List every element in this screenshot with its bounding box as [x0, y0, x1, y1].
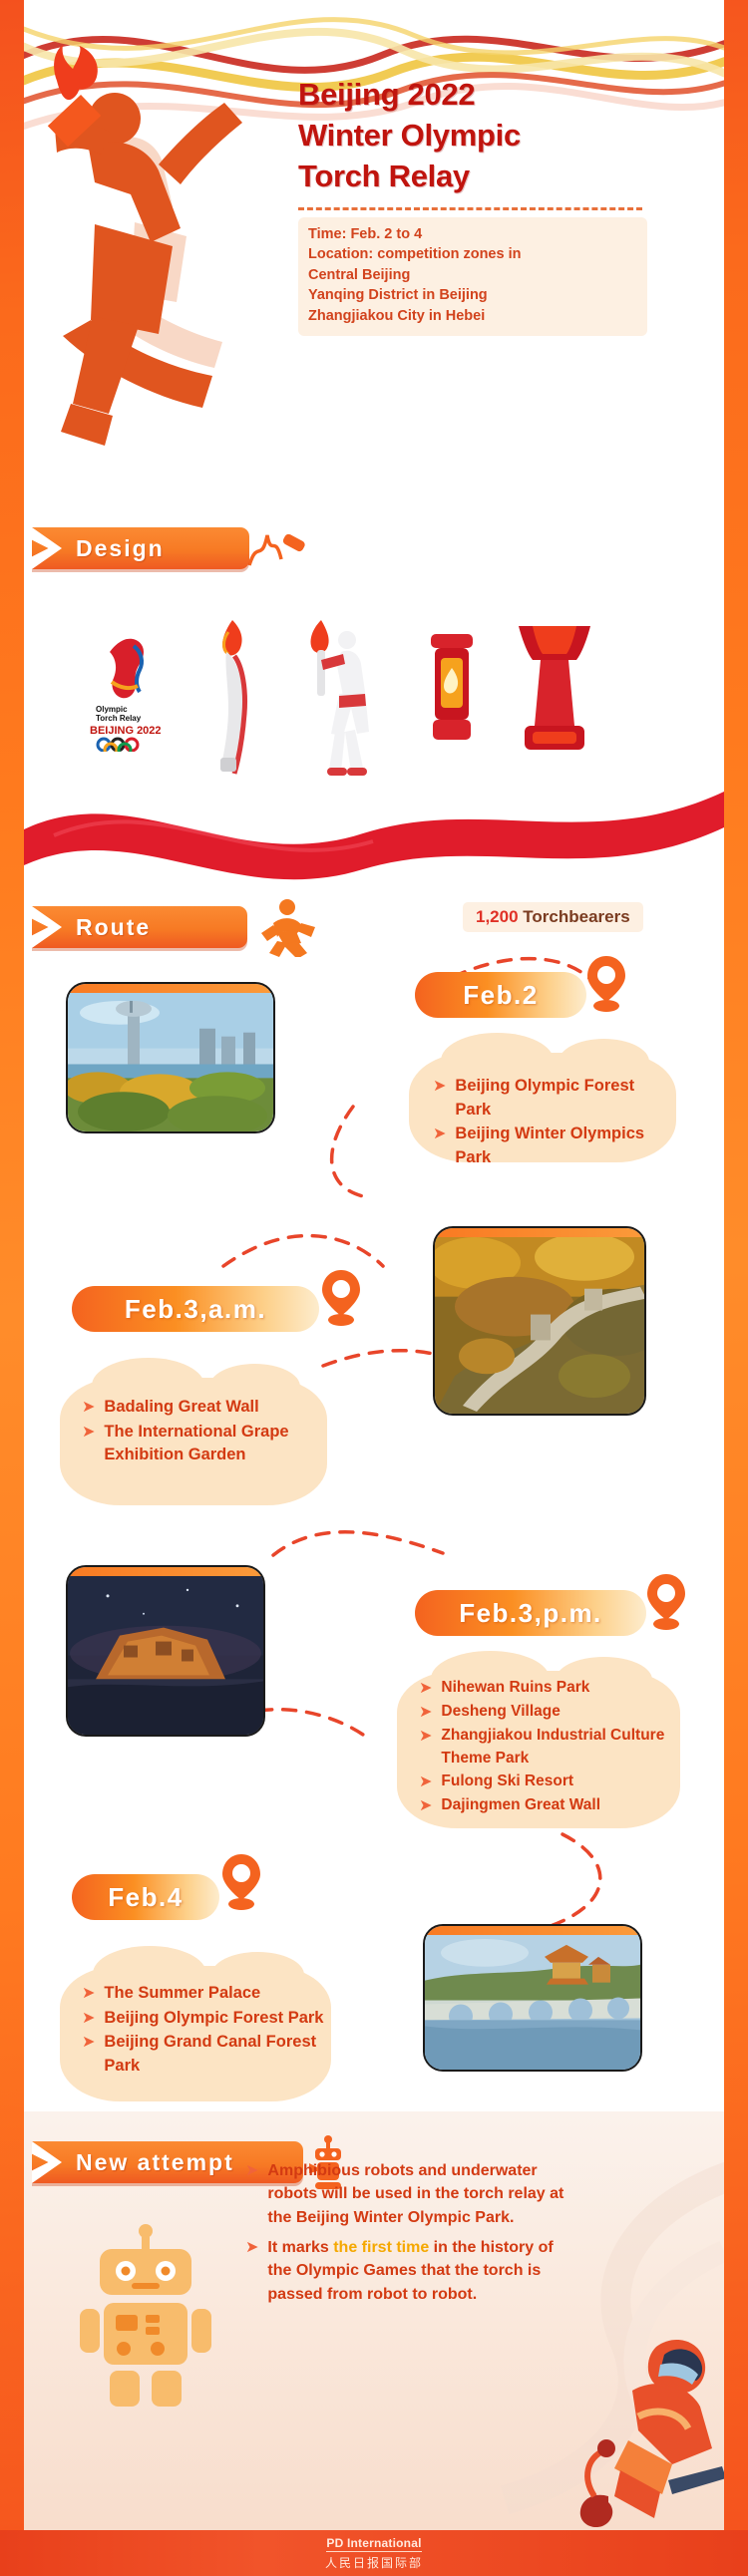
date-pill-feb3am-label: Feb.3,a.m.: [125, 1294, 266, 1325]
info-line-location: Location: competition zones in: [308, 244, 637, 265]
arrow-bullet-icon: ➤: [433, 1075, 446, 1098]
svg-text:Torch Relay: Torch Relay: [96, 714, 142, 723]
title-line-1: Beijing 2022: [298, 75, 692, 116]
arrow-bullet-icon: ➤: [419, 1701, 432, 1724]
list-item: ➤ Beijing Grand Canal Forest Park: [82, 2031, 331, 2078]
photo-frame-top: [435, 1228, 644, 1237]
place-label: The Summer Palace: [104, 1982, 260, 2006]
place-list-feb3am: ➤ Badaling Great Wall ➤ The Internationa…: [82, 1396, 333, 1468]
list-item: ➤ Beijing Winter Olympics Park: [433, 1123, 672, 1169]
section-banner-design[interactable]: Design: [32, 527, 249, 569]
attempt-point-1: Amphibious robots and underwater robots …: [267, 2159, 564, 2229]
place-label: The International Grape Exhibition Garde…: [104, 1421, 333, 1467]
svg-text:Olympic: Olympic: [96, 705, 128, 714]
info-line-time: Time: Feb. 2 to 4: [308, 224, 637, 245]
title-line-3: Torch Relay: [298, 157, 692, 197]
route-photo-feb4: [423, 1924, 642, 2072]
new-attempt-section: New attempt: [24, 2111, 724, 2530]
date-pill-feb2[interactable]: Feb.2: [415, 972, 586, 1018]
arrow-bullet-icon: ➤: [82, 1396, 95, 1419]
photo-frame-top: [68, 1567, 263, 1576]
place-label: Fulong Ski Resort: [441, 1771, 573, 1792]
torch-flying-icon: [208, 616, 262, 776]
torchbearers-badge: 1,200 Torchbearers: [463, 902, 643, 932]
footer-cn-label: 人民日报国际部: [325, 2554, 423, 2571]
route-photo-feb2: [66, 982, 275, 1133]
arrow-bullet-icon: ➤: [419, 1794, 432, 1817]
place-label: Zhangjiakou Industrial Culture Theme Par…: [441, 1725, 686, 1769]
list-item: ➤ Nihewan Ruins Park: [419, 1677, 686, 1700]
place-label: Beijing Olympic Forest Park: [455, 1075, 672, 1122]
attempt-point-2-highlight: the first time: [333, 2239, 429, 2256]
place-label: Beijing Olympic Forest Park: [104, 2007, 323, 2031]
place-label: Beijing Grand Canal Forest Park: [104, 2031, 331, 2078]
torch-lantern-icon: [423, 628, 481, 746]
map-pin-icon-feb2: [584, 954, 628, 1012]
footer-en-label: PD International: [326, 2536, 421, 2552]
arrow-bullet-icon: ➤: [82, 1421, 95, 1444]
poster-background: Beijing 2022 Winter Olympic Torch Relay …: [0, 0, 748, 2576]
arrow-bullet-icon: ➤: [245, 2236, 258, 2259]
list-item: ➤ Badaling Great Wall: [82, 1396, 333, 1420]
place-list-feb3pm: ➤ Nihewan Ruins Park ➤ Desheng Village ➤…: [419, 1677, 686, 1818]
poster-canvas: Beijing 2022 Winter Olympic Torch Relay …: [24, 0, 724, 2530]
info-line-zhangjiakou: Zhangjiakou City in Hebei: [308, 306, 637, 327]
list-item: ➤ Desheng Village: [419, 1701, 686, 1724]
red-ribbon-decoration: [24, 758, 724, 887]
list-item: ➤ Dajingmen Great Wall: [419, 1794, 686, 1817]
map-pin-icon-feb4: [219, 1852, 263, 1910]
list-item: ➤ Fulong Ski Resort: [419, 1771, 686, 1793]
footer: PD International 人民日报国际部: [0, 2530, 748, 2576]
place-label: Dajingmen Great Wall: [441, 1794, 600, 1816]
torch-doodle-icon: [243, 525, 309, 571]
date-pill-feb3pm-label: Feb.3,p.m.: [459, 1598, 602, 1629]
arrow-bullet-icon: ➤: [245, 2159, 258, 2182]
design-item-cauldron: [509, 620, 600, 761]
date-pill-feb3am[interactable]: Feb.3,a.m.: [72, 1286, 319, 1332]
torchbearer-figure-icon: [303, 610, 381, 782]
torchbearers-count: 1,200: [476, 907, 519, 926]
robot-large-icon: [76, 2221, 215, 2411]
date-pill-feb4[interactable]: Feb.4: [72, 1874, 219, 1920]
title-divider: [298, 207, 642, 210]
date-pill-feb4-label: Feb.4: [108, 1882, 183, 1913]
torchbearers-label: Torchbearers: [523, 907, 629, 926]
design-item-emblem: Olympic Torch Relay BEIJING 2022: [82, 634, 178, 757]
new-attempt-banner-label: New attempt: [76, 2149, 234, 2176]
date-pill-feb2-label: Feb.2: [463, 980, 538, 1011]
photo-image-olympic-tower: [68, 993, 273, 1131]
photo-image-summer-palace: [425, 1935, 640, 2070]
arrow-bullet-icon: ➤: [82, 2031, 95, 2054]
arrow-bullet-icon: ➤: [419, 1771, 432, 1793]
hero-section: Beijing 2022 Winter Olympic Torch Relay …: [24, 0, 724, 508]
map-pin-icon-feb3am: [319, 1268, 363, 1326]
place-label: Badaling Great Wall: [104, 1396, 258, 1420]
design-item-torch: [208, 616, 262, 781]
route-photo-feb3pm: [66, 1565, 265, 1737]
list-item: ➤ The International Grape Exhibition Gar…: [82, 1421, 333, 1467]
route-photo-feb3am: [433, 1226, 646, 1416]
torch-runner-illustration: [24, 45, 288, 464]
design-banner-row: Design: [32, 525, 309, 571]
cauldron-icon: [509, 620, 600, 756]
arrow-bullet-icon: ➤: [82, 1982, 95, 2005]
place-list-feb2: ➤ Beijing Olympic Forest Park ➤ Beijing …: [433, 1075, 672, 1170]
new-attempt-points: ➤ Amphibious robots and underwater robot…: [245, 2159, 564, 2307]
title-block: Beijing 2022 Winter Olympic Torch Relay …: [298, 75, 692, 336]
photo-image-great-wall: [435, 1237, 644, 1414]
place-label: Nihewan Ruins Park: [441, 1677, 589, 1699]
skier-illustration: [561, 2321, 724, 2530]
list-item: ➤ Amphibious robots and underwater robot…: [245, 2159, 564, 2229]
place-list-feb4: ➤ The Summer Palace ➤ Beijing Olympic Fo…: [82, 1982, 331, 2079]
arrow-bullet-icon: ➤: [419, 1725, 432, 1748]
info-line-yanqing: Yanqing District in Beijing: [308, 285, 637, 306]
list-item: ➤ The Summer Palace: [82, 1982, 331, 2006]
list-item: ➤ Beijing Olympic Forest Park: [82, 2007, 331, 2031]
photo-frame-top: [68, 984, 273, 993]
attempt-point-2: It marks the first time in the history o…: [267, 2236, 564, 2306]
list-item: ➤ It marks the first time in the history…: [245, 2236, 564, 2306]
title-line-2: Winter Olympic: [298, 116, 692, 157]
photo-image-nihewan-rocks: [68, 1576, 263, 1735]
arrow-bullet-icon: ➤: [419, 1677, 432, 1700]
info-line-central-beijing: Central Beijing: [308, 265, 637, 286]
photo-frame-top: [425, 1926, 640, 1935]
place-label: Desheng Village: [441, 1701, 560, 1723]
design-banner-label: Design: [76, 535, 165, 562]
place-label: Beijing Winter Olympics Park: [455, 1123, 672, 1169]
event-info-box: Time: Feb. 2 to 4 Location: competition …: [298, 217, 647, 336]
arrow-bullet-icon: ➤: [433, 1123, 446, 1145]
list-item: ➤ Beijing Olympic Forest Park: [433, 1075, 672, 1122]
attempt-point-2-pre: It marks: [267, 2239, 333, 2256]
design-item-lantern: [423, 628, 481, 751]
svg-text:BEIJING 2022: BEIJING 2022: [90, 725, 162, 737]
arrow-bullet-icon: ➤: [82, 2007, 95, 2030]
list-item: ➤ Zhangjiakou Industrial Culture Theme P…: [419, 1725, 686, 1769]
beijing-2022-emblem-icon: Olympic Torch Relay BEIJING 2022: [82, 634, 178, 752]
map-pin-icon-feb3pm: [644, 1572, 688, 1630]
date-pill-feb3pm[interactable]: Feb.3,p.m.: [415, 1590, 646, 1636]
